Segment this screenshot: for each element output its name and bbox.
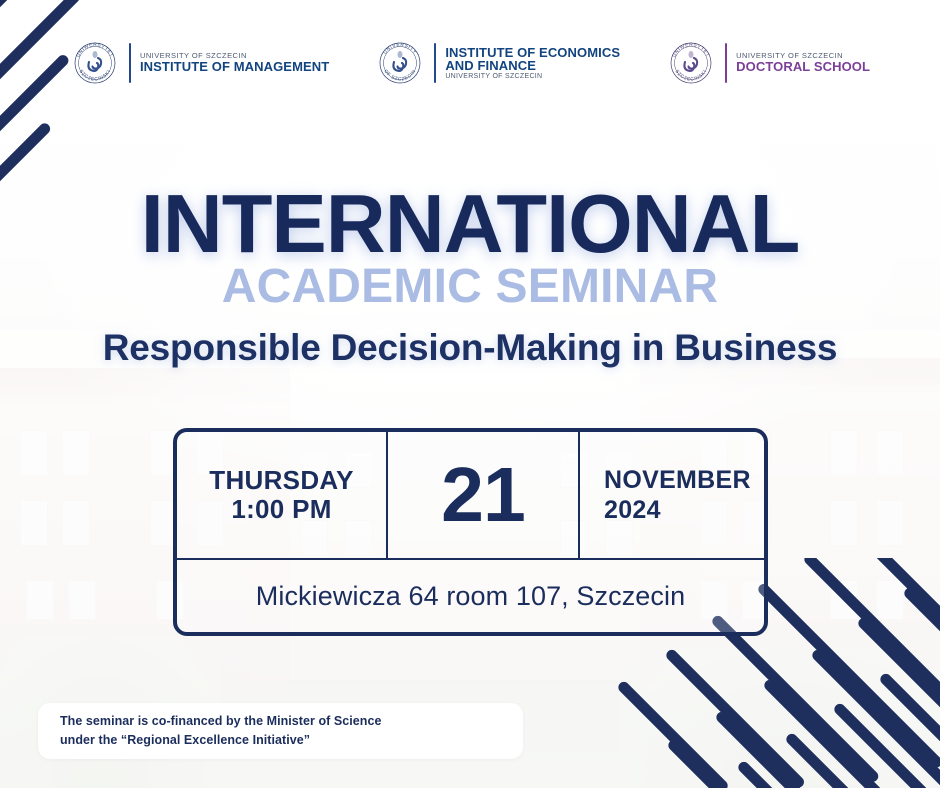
logo-title-line2: AND FINANCE — [445, 59, 620, 73]
event-day-number: 21 — [441, 457, 525, 534]
event-venue: Mickiewicza 64 room 107, Szczecin — [256, 581, 685, 612]
day-number-cell: 21 — [388, 432, 580, 558]
event-weekday: THURSDAY — [209, 466, 353, 495]
event-year: 2024 — [604, 495, 661, 525]
logo-divider — [725, 43, 727, 83]
seminar-subtitle: Responsible Decision-Making in Business — [0, 327, 940, 369]
logo-subline: UNIVERSITY OF SZCZECIN — [445, 73, 620, 80]
logo-divider — [129, 43, 131, 83]
event-date-row: THURSDAY 1:00 PM 21 NOVEMBER 2024 — [177, 432, 764, 560]
weekday-time-cell: THURSDAY 1:00 PM — [177, 432, 388, 558]
logo-institute-of-management: UNIWERSYTET SZCZECINSKI UNIVERSITY OF SZ… — [70, 38, 329, 88]
logo-text: INSTITUTE OF ECONOMICS AND FINANCE UNIVE… — [445, 46, 620, 81]
logo-institute-of-economics-and-finance: UNIVERSITY OF SZCZECIN INSTITUTE OF ECON… — [375, 38, 620, 88]
logo-divider — [434, 43, 436, 83]
funding-note-line2: under the “Regional Excellence Initiativ… — [60, 731, 523, 750]
event-venue-row: Mickiewicza 64 room 107, Szczecin — [177, 560, 764, 632]
university-seal-icon: UNIWERSYTET SZCZECINSKI — [666, 38, 716, 88]
decorative-stripe — [664, 648, 806, 788]
logo-title: INSTITUTE OF MANAGEMENT — [140, 60, 329, 74]
event-month: NOVEMBER — [604, 465, 751, 495]
headline-block: INTERNATIONAL ACADEMIC SEMINAR Responsib… — [0, 183, 940, 369]
seminar-poster: UNIWERSYTET SZCZECINSKI UNIVERSITY OF SZ… — [0, 0, 940, 788]
logo-text: UNIVERSITY OF SZCZECIN DOCTORAL SCHOOL — [736, 52, 870, 74]
logo-title: DOCTORAL SCHOOL — [736, 60, 870, 74]
event-time: 1:00 PM — [231, 495, 331, 524]
title-international: INTERNATIONAL — [0, 183, 940, 264]
logo-title-line1: INSTITUTE OF ECONOMICS — [445, 46, 620, 60]
funding-note: The seminar is co-financed by the Minist… — [38, 703, 523, 759]
logo-doctoral-school: UNIWERSYTET SZCZECINSKI UNIVERSITY OF SZ… — [666, 38, 870, 88]
month-year-cell: NOVEMBER 2024 — [580, 432, 764, 558]
funding-note-line1: The seminar is co-financed by the Minist… — [60, 712, 523, 731]
event-details-panel: THURSDAY 1:00 PM 21 NOVEMBER 2024 Mickie… — [173, 428, 768, 636]
logo-row: UNIWERSYTET SZCZECINSKI UNIVERSITY OF SZ… — [0, 30, 940, 96]
university-seal-icon: UNIVERSITY OF SZCZECIN — [375, 38, 425, 88]
logo-text: UNIVERSITY OF SZCZECIN INSTITUTE OF MANA… — [140, 52, 329, 74]
university-seal-icon: UNIWERSYTET SZCZECINSKI — [70, 38, 120, 88]
